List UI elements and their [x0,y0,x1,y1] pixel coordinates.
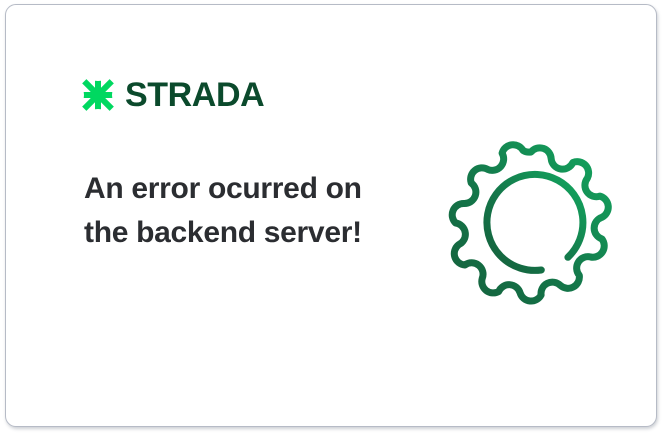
gear-cog-icon [446,137,616,307]
strada-asterisk-icon [78,75,118,115]
brand-name: STRADA [125,78,264,112]
error-message: An error ocurred on the backend server! [84,167,374,255]
brand-lockup: STRADA [78,73,264,117]
error-card: STRADA An error ocurred on the backend s… [5,4,657,427]
